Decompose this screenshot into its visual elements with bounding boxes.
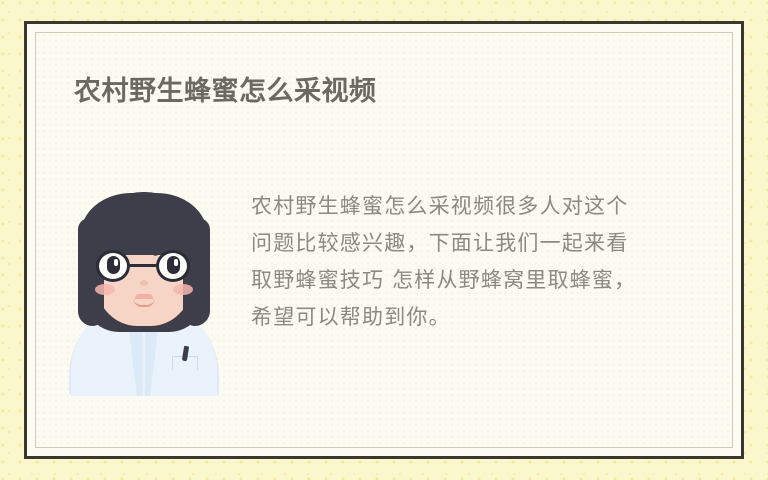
inner-frame: 农村野生蜂蜜怎么采视频	[35, 32, 733, 448]
eye-right	[167, 256, 180, 274]
glasses-bridge	[129, 264, 157, 267]
eye-glint-left	[114, 259, 118, 266]
article-body: 农村野生蜂蜜怎么采视频很多人对这个问题比较感兴趣，下面让我们一起来看取野蜂蜜技巧…	[251, 188, 691, 336]
avatar	[69, 188, 219, 403]
page-background: 农村野生蜂蜜怎么采视频	[0, 0, 768, 480]
avatar-container	[36, 188, 251, 403]
nose	[140, 280, 148, 286]
page-title: 农村野生蜂蜜怎么采视频	[74, 74, 377, 109]
eye-left	[107, 256, 120, 274]
outer-frame: 农村野生蜂蜜怎么采视频	[24, 21, 744, 459]
eye-glint-right	[174, 259, 178, 266]
cheek-blush-left	[95, 284, 115, 295]
article-content: 农村野生蜂蜜怎么采视频很多人对这个问题比较感兴趣，下面让我们一起来看取野蜂蜜技巧…	[36, 188, 732, 403]
cheek-blush-right	[173, 284, 193, 295]
